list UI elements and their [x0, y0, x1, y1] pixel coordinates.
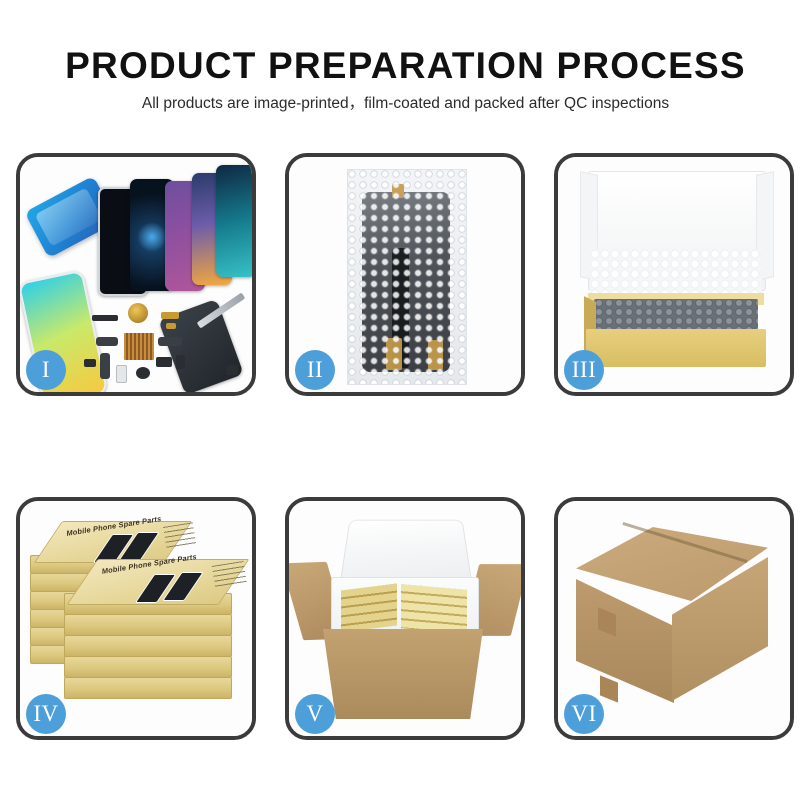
- part-flex-cable-left: [96, 337, 118, 346]
- page-subtitle: All products are image-printed，film-coat…: [0, 94, 811, 114]
- foam-cooler-lid: [340, 520, 473, 583]
- phone-display-teal: [216, 165, 252, 277]
- stacked-box-front-4: [64, 656, 232, 678]
- part-camera-module: [136, 367, 150, 379]
- infographic-page: PRODUCT PREPARATION PROCESS All products…: [0, 0, 811, 811]
- box-label-text-lines-front: [212, 561, 247, 590]
- process-step-2: II: [285, 153, 525, 396]
- stacked-box-front-3: [64, 635, 232, 657]
- part-gold-clip: [166, 323, 176, 329]
- stacked-box-front-5: [64, 677, 232, 699]
- part-flex-cable-right: [158, 337, 182, 346]
- step-badge-4: IV: [26, 694, 66, 734]
- wrapped-gold-connector-left: [386, 338, 402, 370]
- step-badge-6: VI: [564, 694, 604, 734]
- process-grid: I II: [16, 153, 795, 740]
- part-battery-connector: [176, 355, 185, 369]
- step-badge-3: III: [564, 350, 604, 390]
- part-coil: [128, 303, 148, 323]
- header: PRODUCT PREPARATION PROCESS All products…: [0, 44, 811, 114]
- part-chip-array: [124, 333, 154, 360]
- bubble-wrap-bag: [347, 169, 467, 385]
- process-step-3: III: [554, 153, 794, 396]
- step-badge-2: II: [295, 350, 335, 390]
- process-step-1: I: [16, 153, 256, 396]
- process-step-4: Mobile Phone Spare Parts Mobile Phone Sp…: [16, 497, 256, 740]
- page-title: PRODUCT PREPARATION PROCESS: [0, 44, 811, 88]
- process-step-6: VI: [554, 497, 794, 740]
- part-gold-connector: [161, 312, 179, 319]
- part-bar-connector: [92, 315, 118, 321]
- part-small-chip: [84, 359, 96, 367]
- box-contents-bubble-wrap: [594, 299, 758, 333]
- process-step-5: V: [285, 497, 525, 740]
- gold-boxes-group-left: [341, 584, 397, 633]
- step-badge-1: I: [26, 350, 66, 390]
- part-sim-tray: [116, 365, 127, 383]
- wrapped-top-tab: [392, 184, 404, 198]
- wrapped-gold-connector-right: [428, 340, 443, 370]
- carton-tape-lower: [600, 675, 618, 702]
- gold-boxes-group-right: [401, 584, 467, 634]
- part-screw-set: [226, 365, 238, 375]
- box-lid-front: Mobile Phone Spare Parts: [66, 559, 249, 605]
- carton-body: [323, 629, 483, 719]
- box-label-text-lines-back: [163, 522, 196, 548]
- sealed-carton-left-face: [576, 579, 674, 703]
- stacked-box-front-2: [64, 614, 232, 636]
- part-flex-cable-lower: [100, 353, 110, 379]
- step-badge-5: V: [295, 694, 335, 734]
- part-speaker-module: [156, 357, 172, 367]
- box-front-panel: [586, 329, 766, 367]
